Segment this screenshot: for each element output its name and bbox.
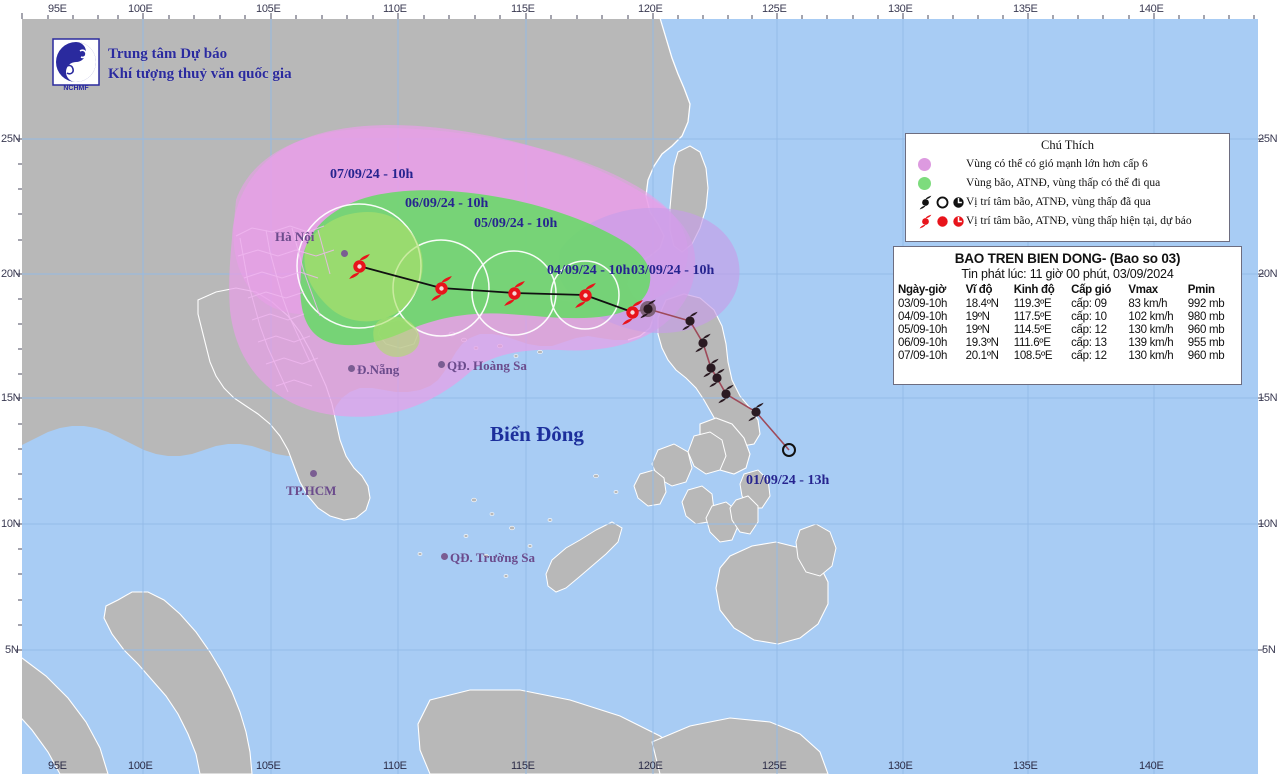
storm-marker-past-7	[746, 402, 766, 422]
city-label-truongsa: QĐ. Trường Sa	[450, 550, 535, 566]
lon-tick-top-125e: 125E	[762, 3, 787, 15]
cell-datetime: 07/09-10h	[898, 349, 966, 362]
lon-tick-bottom-115e: 115E	[511, 760, 535, 772]
lat-tick-right-5n: 5N	[1262, 644, 1275, 656]
cell-wind-category: cấp: 10	[1071, 310, 1128, 323]
storm-info-issue-time: Tin phát lúc: 11 giờ 00 phút, 03/09/2024	[898, 267, 1237, 281]
cell-wind-category: cấp: 12	[1071, 323, 1128, 336]
table-row: 07/09-10h 20.1ºN 108.5ºE cấp: 12 130 km/…	[898, 349, 1237, 362]
col-header-vmax: Vmax	[1128, 284, 1187, 297]
city-dot-tphcm	[310, 470, 317, 477]
storm-marker-forecast-05-09	[501, 280, 528, 307]
storm-black-icon	[918, 195, 933, 210]
city-label-hoangsa: QĐ. Hoàng Sa	[447, 358, 527, 374]
col-header-wind-category: Cấp gió	[1071, 284, 1128, 297]
cell-longitude: 117.5ºE	[1014, 310, 1071, 323]
storm-marker-forecast-07-09	[346, 253, 373, 280]
axis-left-band	[0, 0, 22, 774]
city-label-hanoi: Hà Nội	[275, 229, 314, 245]
city-dot-truongsa	[441, 553, 448, 560]
lon-tick-top-95e: 95E	[48, 3, 67, 15]
lon-tick-top-115e: 115E	[511, 3, 535, 15]
low-black-icon	[952, 196, 965, 209]
legend-row-current-positions: Vị trí tâm bão, ATNĐ, vùng thấp hiện tại…	[912, 212, 1223, 231]
pink-circle-icon	[912, 158, 966, 171]
nchmf-circular-emblem-icon: NCHMF	[52, 38, 100, 92]
cell-latitude: 18.4ºN	[966, 297, 1014, 310]
cell-vmax: 130 km/h	[1128, 323, 1187, 336]
lat-tick-left-10n: 10N	[1, 518, 20, 530]
red-storm-symbols-icon	[912, 214, 966, 229]
lat-tick-left-25n: 25N	[1, 133, 20, 145]
org-name-line2: Khí tượng thuỷ văn quốc gia	[108, 65, 292, 85]
forecast-date-label-07-09: 07/09/24 - 10h	[330, 167, 413, 183]
forecast-table: Ngày-giờ Vĩ độ Kinh độ Cấp gió Vmax Pmin…	[898, 284, 1237, 362]
legend-label-storm-zone: Vùng bão, ATNĐ, vùng thấp có thể đi qua	[966, 178, 1160, 190]
low-red-icon	[952, 215, 965, 228]
col-header-pmin: Pmin	[1188, 284, 1237, 297]
axis-right-band	[1258, 0, 1280, 774]
org-name-line1: Trung tâm Dự báo	[108, 45, 292, 65]
storm-marker-past-2	[680, 311, 700, 331]
lon-tick-top-100e: 100E	[128, 3, 153, 15]
cell-wind-category: cấp: 09	[1071, 297, 1128, 310]
cell-vmax: 102 km/h	[1128, 310, 1187, 323]
cell-longitude: 108.5ºE	[1014, 349, 1071, 362]
forecast-date-label-06-09: 06/09/24 - 10h	[405, 196, 488, 212]
lat-tick-left-20n: 20N	[1, 268, 20, 280]
legend-label-wind-zone: Vùng có thể có gió mạnh lớn hơn cấp 6	[966, 159, 1148, 171]
lon-tick-bottom-105e: 105E	[256, 760, 281, 772]
cell-wind-category: cấp: 12	[1071, 349, 1128, 362]
storm-marker-past-6	[716, 384, 736, 404]
map-canvas	[0, 0, 1280, 774]
storm-marker-forecast-04-09	[572, 282, 599, 309]
cell-latitude: 19ºN	[966, 310, 1014, 323]
cell-vmax: 130 km/h	[1128, 349, 1187, 362]
black-storm-symbols-icon	[912, 195, 966, 210]
col-header-longitude: Kinh độ	[1014, 284, 1071, 297]
storm-info-title: BAO TREN BIEN DONG- (Bao so 03)	[898, 251, 1237, 266]
legend-title: Chú Thích	[912, 138, 1223, 153]
circle-red-icon	[936, 215, 949, 228]
lat-tick-right-15n: 15N	[1258, 392, 1277, 404]
lat-tick-right-10n: 10N	[1258, 518, 1277, 530]
lat-tick-left-5n: 5N	[5, 644, 18, 656]
forecast-date-label-03-09: 03/09/24 - 10h	[631, 263, 714, 279]
forecast-table-header-row: Ngày-giờ Vĩ độ Kinh độ Cấp gió Vmax Pmin	[898, 284, 1237, 297]
legend-row-past-positions: Vị trí tâm bão, ATNĐ, vùng thấp đã qua	[912, 193, 1223, 212]
lon-tick-bottom-95e: 95E	[48, 760, 67, 772]
legend-row-storm-zone: Vùng bão, ATNĐ, vùng thấp có thể đi qua	[912, 174, 1223, 193]
cell-latitude: 19.3ºN	[966, 336, 1014, 349]
cell-wind-category: cấp: 13	[1071, 336, 1128, 349]
storm-red-icon	[918, 214, 933, 229]
forecast-date-label-05-09: 05/09/24 - 10h	[474, 216, 557, 232]
table-row: 06/09-10h 19.3ºN 111.6ºE cấp: 13 139 km/…	[898, 336, 1237, 349]
cell-vmax: 83 km/h	[1128, 297, 1187, 310]
green-circle-icon	[912, 177, 966, 190]
lon-tick-bottom-140e: 140E	[1139, 760, 1164, 772]
lon-tick-top-110e: 110E	[383, 3, 407, 15]
cell-pmin: 960 mb	[1188, 349, 1237, 362]
cell-pmin: 980 mb	[1188, 310, 1237, 323]
table-row: 04/09-10h 19ºN 117.5ºE cấp: 10 102 km/h …	[898, 310, 1237, 323]
lon-tick-bottom-130e: 130E	[888, 760, 913, 772]
cell-latitude: 19ºN	[966, 323, 1014, 336]
storm-info-panel: BAO TREN BIEN DONG- (Bao so 03) Tin phát…	[893, 246, 1242, 385]
lon-tick-bottom-110e: 110E	[383, 760, 407, 772]
cell-pmin: 960 mb	[1188, 323, 1237, 336]
cell-datetime: 03/09-10h	[898, 297, 966, 310]
organization-header: NCHMF Trung tâm Dự báo Khí tượng thuỷ vă…	[52, 38, 292, 92]
lat-tick-right-25n: 25N	[1258, 133, 1277, 145]
city-label-tphcm: TP.HCM	[286, 483, 336, 499]
lon-tick-top-140e: 140E	[1139, 3, 1164, 15]
cell-latitude: 20.1ºN	[966, 349, 1014, 362]
circle-open-black-icon	[936, 196, 949, 209]
legend-label-past-positions: Vị trí tâm bão, ATNĐ, vùng thấp đã qua	[966, 197, 1151, 209]
cell-longitude: 114.5ºE	[1014, 323, 1071, 336]
cell-pmin: 992 mb	[1188, 297, 1237, 310]
lon-tick-bottom-120e: 120E	[638, 760, 663, 772]
past-date-label-01-09: 01/09/24 - 13h	[746, 473, 829, 489]
lon-tick-bottom-100e: 100E	[128, 760, 153, 772]
cell-pmin: 955 mb	[1188, 336, 1237, 349]
storm-marker-past-3	[693, 333, 713, 353]
cell-datetime: 06/09-10h	[898, 336, 966, 349]
logo-text: NCHMF	[63, 85, 89, 92]
sea-name-label: Biển Đông	[490, 422, 584, 447]
cell-longitude: 111.6ºE	[1014, 336, 1071, 349]
storm-marker-forecast-03-09	[619, 299, 646, 326]
cell-vmax: 139 km/h	[1128, 336, 1187, 349]
table-row: 03/09-10h 18.4ºN 119.3ºE cấp: 09 83 km/h…	[898, 297, 1237, 310]
lat-tick-left-15n: 15N	[1, 392, 20, 404]
forecast-date-label-04-09: 04/09/24 - 10h	[547, 263, 630, 279]
lat-tick-right-20n: 20N	[1258, 268, 1277, 280]
legend-row-wind-zone: Vùng có thể có gió mạnh lớn hơn cấp 6	[912, 155, 1223, 174]
city-label-danang: Đ.Nẵng	[357, 362, 399, 378]
cell-longitude: 119.3ºE	[1014, 297, 1071, 310]
cell-datetime: 05/09-10h	[898, 323, 966, 336]
storm-forecast-map: NCHMF Trung tâm Dự báo Khí tượng thuỷ vă…	[0, 0, 1280, 774]
legend-label-current-positions: Vị trí tâm bão, ATNĐ, vùng thấp hiện tại…	[966, 216, 1192, 228]
lon-tick-top-120e: 120E	[638, 3, 663, 15]
low-pressure-origin-marker	[782, 443, 796, 457]
lon-tick-top-135e: 135E	[1013, 3, 1038, 15]
lon-tick-bottom-135e: 135E	[1013, 760, 1038, 772]
col-header-latitude: Vĩ độ	[966, 284, 1014, 297]
city-dot-hoangsa	[438, 361, 445, 368]
col-header-datetime: Ngày-giờ	[898, 284, 966, 297]
lon-tick-top-105e: 105E	[256, 3, 281, 15]
cell-datetime: 04/09-10h	[898, 310, 966, 323]
lon-tick-bottom-125e: 125E	[762, 760, 787, 772]
lon-tick-top-130e: 130E	[888, 3, 913, 15]
city-dot-danang	[348, 365, 355, 372]
storm-marker-forecast-06-09	[428, 275, 455, 302]
table-row: 05/09-10h 19ºN 114.5ºE cấp: 12 130 km/h …	[898, 323, 1237, 336]
legend-panel: Chú Thích Vùng có thể có gió mạnh lớn hơ…	[905, 133, 1230, 242]
